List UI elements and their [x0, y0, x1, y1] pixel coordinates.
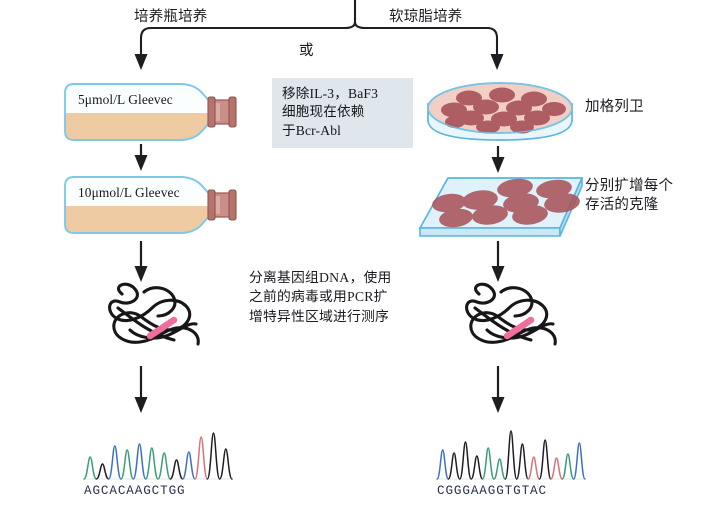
label-add-gleevec: 加格列卫: [585, 98, 644, 117]
arrowhead-right-branch: [491, 54, 504, 70]
trace-peak: [146, 448, 158, 479]
trace-peak: [539, 440, 550, 479]
chromatogram-right: [437, 424, 585, 482]
trace-peak: [195, 437, 207, 479]
trace-peak: [448, 453, 459, 479]
arrow-dna-to-trace-right: [481, 366, 515, 414]
dna-tangle-left: [100, 278, 218, 360]
arrow-dna-to-trace-left: [124, 366, 158, 414]
figure-canvas: 培养瓶培养 软琼脂培养 或 移除IL-3，BaF3 细胞现在依赖 于Bcr-Ab…: [0, 0, 710, 512]
trace-peak: [183, 452, 195, 479]
trace-peak: [207, 433, 219, 479]
trace-peak: [133, 444, 145, 479]
trace-peak: [170, 460, 182, 479]
trace-peak: [437, 450, 448, 479]
trace-peak: [528, 457, 539, 479]
label-or: 或: [299, 42, 314, 61]
note-genomic-dna: 分离基因组DNA，使用 之前的病毒或用PCR扩 增特异性区域进行测序: [249, 268, 391, 326]
culture-flask-1: 5μmol/L Gleevec: [62, 80, 247, 142]
arrowhead-left-branch: [135, 54, 148, 70]
trace-peak: [96, 464, 108, 479]
trace-peak: [460, 442, 471, 479]
culture-flask-2: 10μmol/L Gleevec: [62, 173, 247, 235]
arrow-flask1-to-flask2: [124, 144, 158, 172]
trace-peak: [494, 459, 505, 479]
label-expand-clones: 分别扩增每个 存活的克隆: [585, 177, 673, 215]
trace-peak: [109, 446, 121, 479]
dna-tangle-right: [457, 278, 575, 360]
arrow-plate-to-dna: [481, 241, 515, 283]
sequence-text-left: AGCACAAGCTGG: [84, 484, 186, 498]
trace-peak: [220, 449, 232, 479]
trace-peak: [483, 448, 494, 479]
arrow-flask2-to-dna: [124, 241, 158, 283]
trace-peak: [84, 457, 96, 479]
chromatogram-left: [84, 424, 232, 482]
branch-connector: [0, 0, 710, 75]
trace-peak: [505, 431, 516, 479]
sequence-text-right: CGGGAAGGTGTAC: [437, 484, 547, 498]
trace-peak: [471, 456, 482, 479]
multiwell-plate: [412, 170, 590, 246]
label-right-branch: 软琼脂培养: [389, 8, 463, 27]
flask-cap-1: [208, 97, 236, 127]
flask-cap-2: [208, 190, 236, 220]
trace-peak: [574, 443, 585, 479]
trace-peak: [517, 444, 528, 479]
trace-peak: [158, 453, 170, 479]
petri-dish: [424, 76, 576, 148]
trace-peak: [121, 450, 133, 479]
note-il3-box: 移除IL-3，BaF3 细胞现在依赖 于Bcr-Abl: [272, 78, 413, 148]
flask-1-label: 5μmol/L Gleevec: [78, 92, 173, 108]
flask-2-label: 10μmol/L Gleevec: [78, 185, 180, 201]
label-left-branch: 培养瓶培养: [134, 8, 208, 27]
trace-peak: [562, 454, 573, 479]
trace-peak: [551, 458, 562, 479]
